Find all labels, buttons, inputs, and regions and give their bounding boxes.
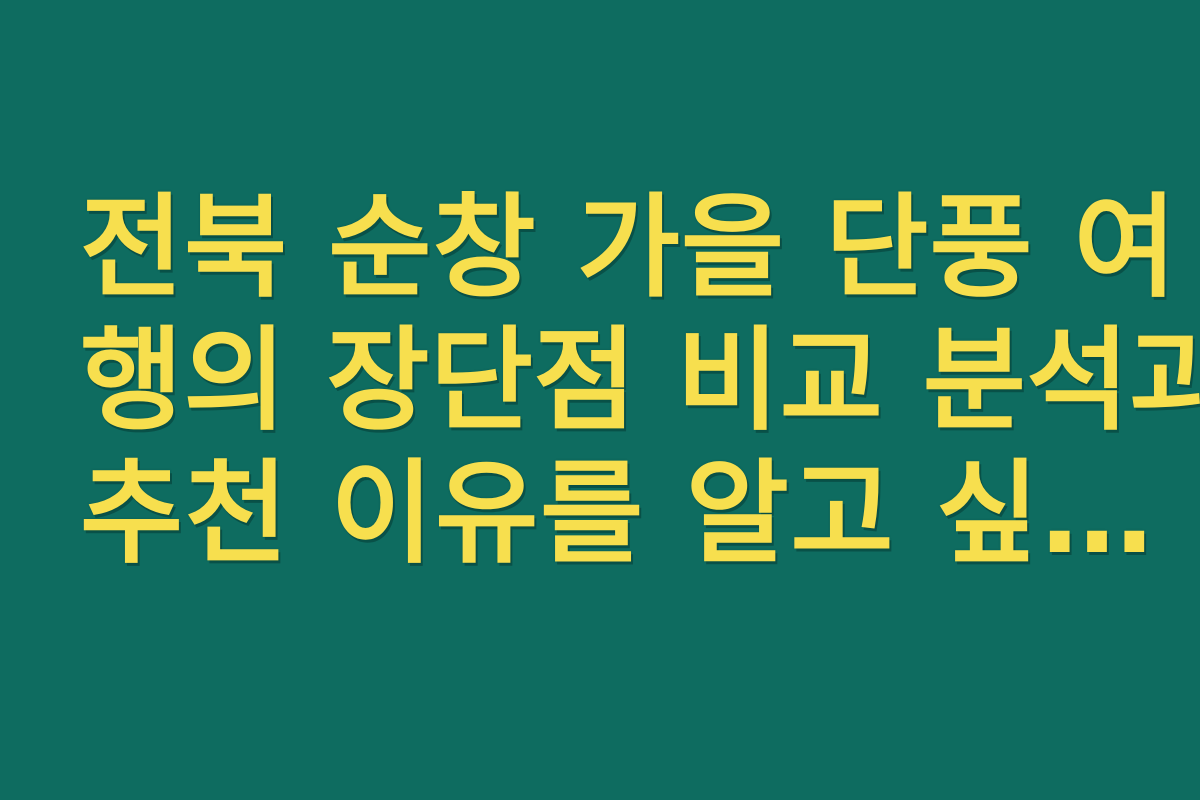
title-line-3: 추천 이유를 알고 싶… <box>80 448 1120 581</box>
title-line-1: 전북 순창 가을 단풍 여 <box>80 182 1120 315</box>
page-title: 전북 순창 가을 단풍 여 행의 장단점 비교 분석과 추천 이유를 알고 싶… <box>80 182 1120 581</box>
title-line-2: 행의 장단점 비교 분석과 <box>80 315 1120 448</box>
thumbnail-card: 전북 순창 가을 단풍 여 행의 장단점 비교 분석과 추천 이유를 알고 싶… <box>0 0 1200 800</box>
